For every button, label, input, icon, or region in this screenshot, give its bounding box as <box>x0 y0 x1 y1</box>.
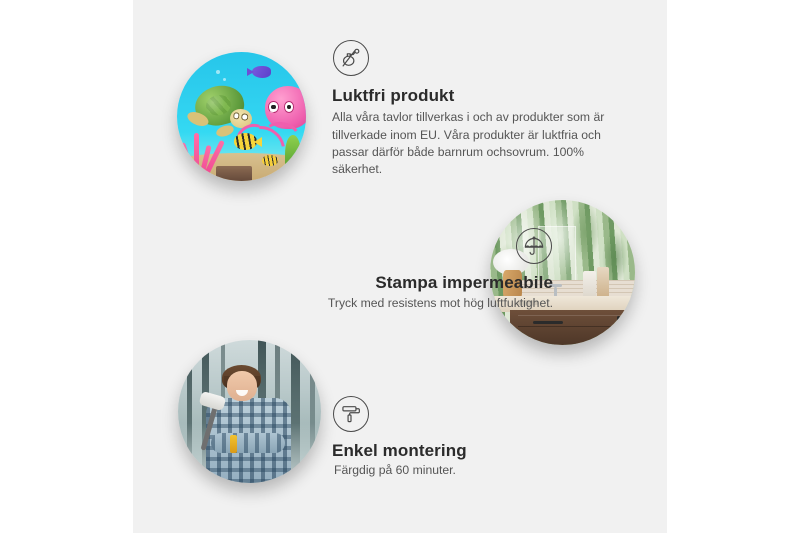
feature-waterproof: Stampa impermeabile Tryck med resistens … <box>213 228 553 313</box>
feature-easy-assembly: Enkel montering Färgdig på 60 minuter. <box>332 396 632 480</box>
wood-vanity-cabinet <box>510 310 635 345</box>
infographic-stage: Luktfri produkt Alla våra tavlor tillver… <box>0 0 800 533</box>
feature-odour-free: Luktfri produkt Alla våra tavlor tillver… <box>332 40 627 179</box>
feature-body: Färgdig på 60 minuter. <box>334 462 632 479</box>
frame-edge <box>216 166 252 181</box>
umbrella-icon <box>516 228 552 264</box>
octopus-eye <box>284 101 294 112</box>
feature-title: Stampa impermeabile <box>213 272 553 293</box>
underwater-mural-thumbnail[interactable] <box>177 52 306 181</box>
cabinet-handle <box>617 316 620 334</box>
small-striped-fish <box>262 155 277 165</box>
feature-title: Luktfri produkt <box>332 85 627 106</box>
feature-title: Enkel montering <box>332 440 632 461</box>
yellow-striped-fish <box>234 133 257 150</box>
feature-body: Tryck med resistens mot hög luftfuktighe… <box>213 295 553 312</box>
ocean-artwork <box>177 52 306 181</box>
paint-roller-icon <box>333 396 369 432</box>
crossed-arms <box>211 433 286 454</box>
face <box>227 371 257 401</box>
drawer-handle <box>533 321 563 324</box>
painter-artwork <box>178 340 321 483</box>
woman-figure <box>204 369 293 483</box>
bubble <box>216 70 220 74</box>
hand-tool <box>230 435 236 453</box>
bubble <box>270 109 274 113</box>
seaweed <box>285 135 300 174</box>
purple-fish <box>252 66 271 78</box>
feature-body: Alla våra tavlor tillverkas i och av pro… <box>332 109 627 178</box>
no-odour-spray-bottle-icon <box>333 40 369 76</box>
infographic-panel: Luktfri produkt Alla våra tavlor tillver… <box>133 0 667 533</box>
painter-forest-thumbnail[interactable] <box>178 340 321 483</box>
paint-roller <box>199 391 227 411</box>
